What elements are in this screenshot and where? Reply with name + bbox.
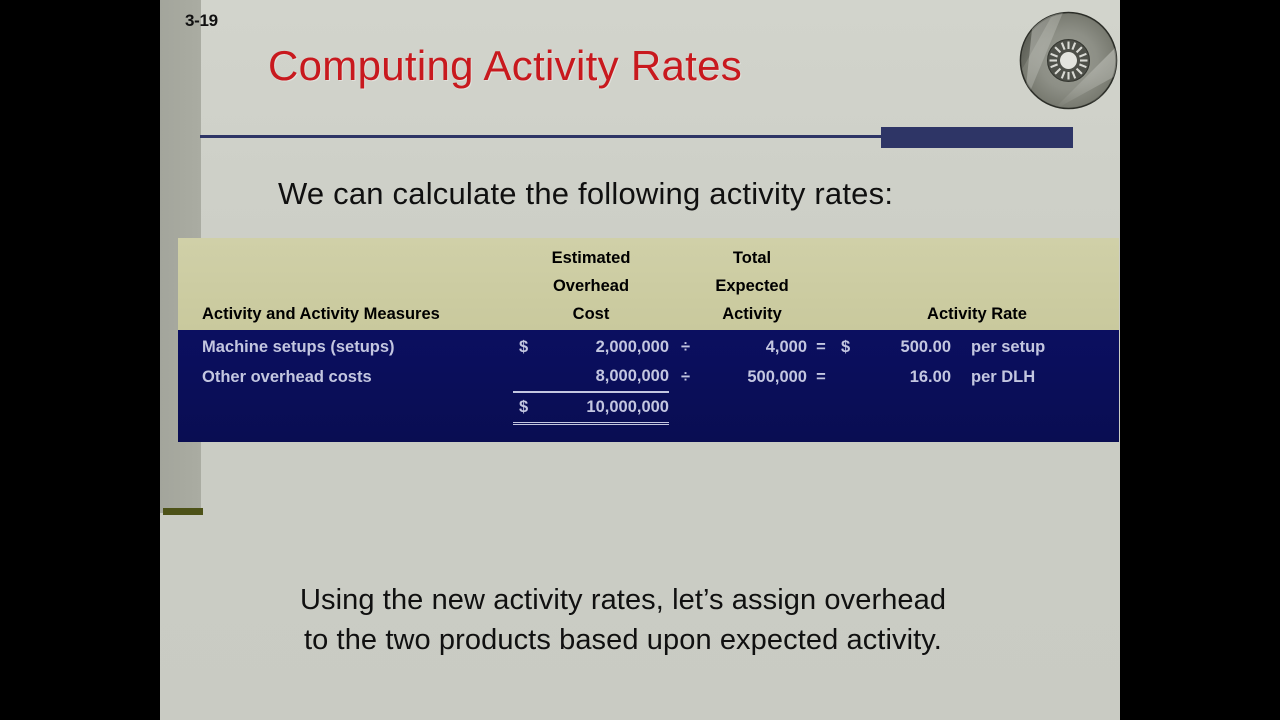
header-measure: Activity and Activity Measures <box>178 300 513 328</box>
closing-line-1: Using the new activity rates, let’s assi… <box>300 580 1040 620</box>
row-0-activity: 4,000 <box>702 333 807 362</box>
row-1-cost: 8,000,000 <box>547 362 669 392</box>
compact-disc-logo <box>1018 10 1119 111</box>
row-1-rate: 16.00 <box>865 362 951 392</box>
activity-rate-table-header: Estimated Total Overhead Expected Activi… <box>178 238 1119 330</box>
row-0-unit: per setup <box>951 333 1119 362</box>
total-label <box>178 392 513 424</box>
row-0-label: Machine setups (setups) <box>178 333 513 362</box>
title-accent-block <box>881 127 1073 148</box>
header-spacer-1 <box>178 244 513 272</box>
row-1-equals-icon: = <box>807 362 835 392</box>
table-header-row-2: Overhead Expected <box>178 272 1119 300</box>
header-spacer-4 <box>835 272 1119 300</box>
header-spacer-2 <box>835 244 1119 272</box>
total-spacer-6 <box>951 392 1119 424</box>
table-header-row-3: Activity and Activity Measures Cost Acti… <box>178 300 1119 328</box>
activity-rate-table: Estimated Total Overhead Expected Activi… <box>178 238 1119 442</box>
total-spacer-3 <box>807 392 835 424</box>
slide-left-band-accent <box>163 508 203 515</box>
slide-number: 3-19 <box>185 11 218 31</box>
table-header-row-1: Estimated Total <box>178 244 1119 272</box>
table-total-row: $ 10,000,000 <box>178 392 1119 424</box>
row-1-activity: 500,000 <box>702 362 807 392</box>
screenshot-root: 3-19 Computing Activity Rates <box>0 0 1280 720</box>
page-title: Computing Activity Rates <box>268 42 742 90</box>
header-activity-line2: Expected <box>669 272 835 300</box>
activity-rate-table-body: Machine setups (setups) $ 2,000,000 ÷ 4,… <box>178 330 1119 442</box>
header-activity-rate: Activity Rate <box>835 300 1119 328</box>
header-cost-line3: Cost <box>513 300 669 328</box>
total-spacer-2 <box>702 392 807 424</box>
total-cost: 10,000,000 <box>547 392 669 424</box>
row-0-cost: 2,000,000 <box>547 333 669 362</box>
header-activity-line3: Activity <box>669 300 835 328</box>
row-1-unit: per DLH <box>951 362 1119 392</box>
header-cost-line1: Estimated <box>513 244 669 272</box>
row-1-rate-symbol <box>835 362 865 392</box>
row-0-equals-icon: = <box>807 333 835 362</box>
lead-sentence: We can calculate the following activity … <box>278 176 893 212</box>
row-0-divide-icon: ÷ <box>669 333 702 362</box>
total-spacer-4 <box>835 392 865 424</box>
row-1-label: Other overhead costs <box>178 362 513 392</box>
row-0-rate: 500.00 <box>865 333 951 362</box>
header-activity-line1: Total <box>669 244 835 272</box>
row-0-cost-symbol: $ <box>513 333 547 362</box>
total-spacer-5 <box>865 392 951 424</box>
row-0-rate-symbol: $ <box>835 333 865 362</box>
total-spacer-1 <box>669 392 702 424</box>
table-row: Other overhead costs 8,000,000 ÷ 500,000… <box>178 362 1119 392</box>
row-1-cost-symbol <box>513 362 547 392</box>
closing-line-2: to the two products based upon expected … <box>300 620 1040 660</box>
closing-paragraph: Using the new activity rates, let’s assi… <box>300 580 1040 660</box>
presentation-slide: 3-19 Computing Activity Rates <box>160 0 1120 720</box>
header-spacer-3 <box>178 272 513 300</box>
header-cost-line2: Overhead <box>513 272 669 300</box>
total-cost-symbol: $ <box>513 392 547 424</box>
row-1-divide-icon: ÷ <box>669 362 702 392</box>
table-row: Machine setups (setups) $ 2,000,000 ÷ 4,… <box>178 333 1119 362</box>
